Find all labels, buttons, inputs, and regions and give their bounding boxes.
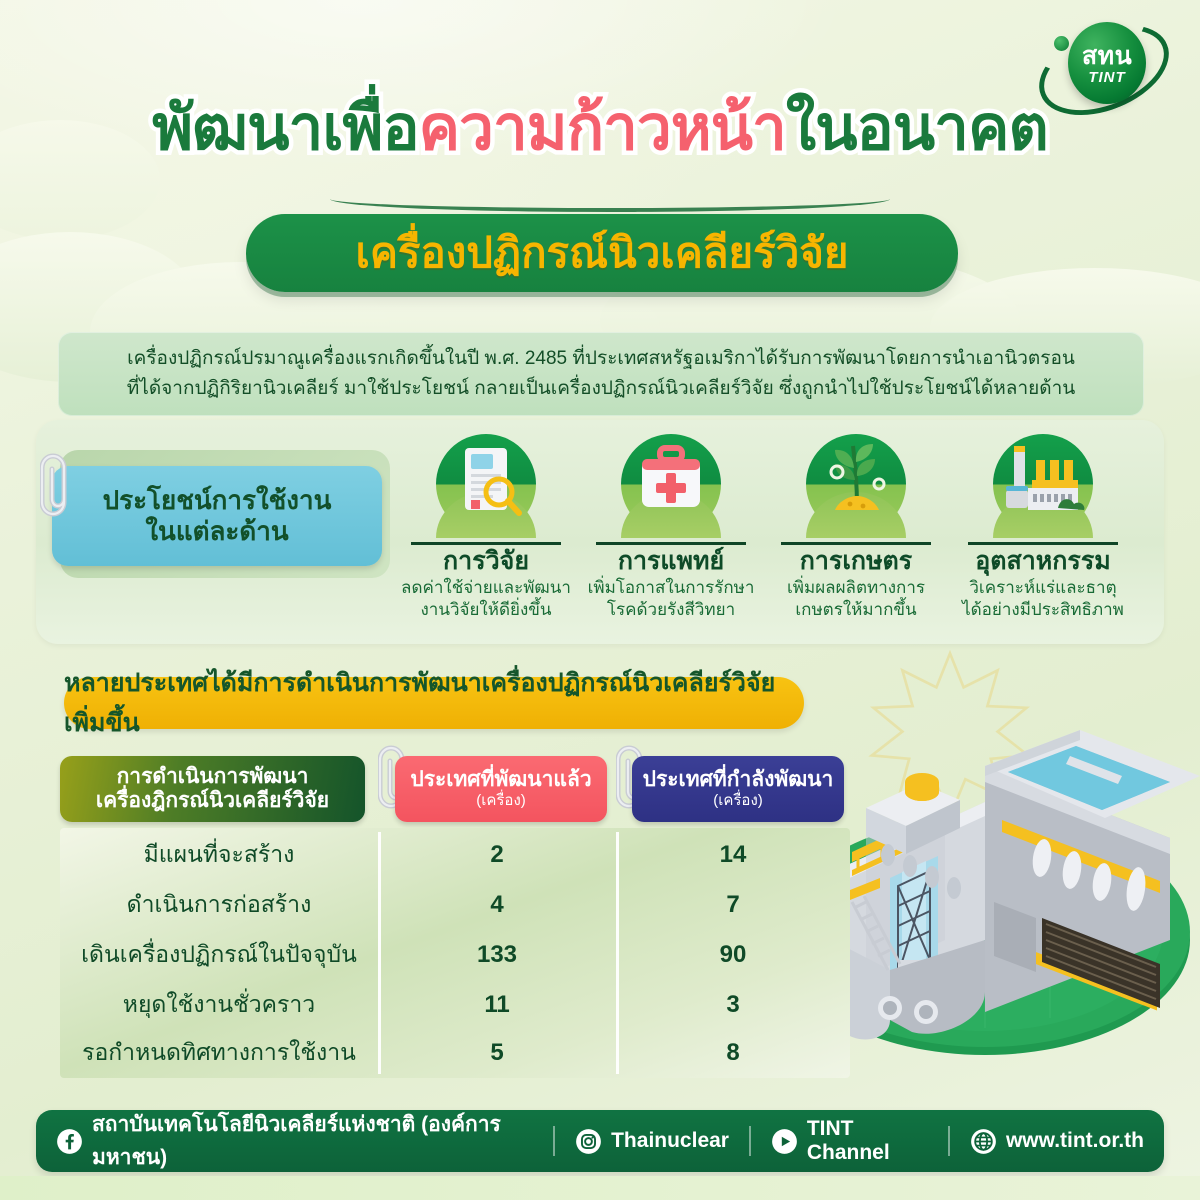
table-row: หยุดใช้งานชั่วคราว 11 3 bbox=[60, 980, 850, 1030]
benefit-title: การวิจัย bbox=[398, 548, 574, 576]
reactor-status-table: การดำเนินการพัฒนา เครื่องฎิกรณ์นิวเคลียร… bbox=[60, 756, 850, 1080]
table-row: ดำเนินการก่อสร้าง 4 7 bbox=[60, 880, 850, 930]
table-section-banner-label: หลายประเทศได้มีการดำเนินการพัฒนาเครื่องป… bbox=[64, 663, 804, 743]
table-body: มีแผนที่จะสร้าง 2 14 ดำเนินการก่อสร้าง 4… bbox=[60, 828, 850, 1078]
benefit-item-research[interactable]: การวิจัย ลดค่าใช้จ่ายและพัฒนา งานวิจัยให… bbox=[398, 434, 574, 620]
table-cell-developing: 90 bbox=[616, 941, 850, 969]
factory-icon bbox=[984, 434, 1102, 538]
table-cell-label: เดินเครื่องปฏิกรณ์ในปัจจุบัน bbox=[60, 937, 378, 973]
benefit-desc-1: เพิ่มผลผลิตทางการ bbox=[768, 577, 944, 598]
table-section-banner: หลายประเทศได้มีการดำเนินการพัฒนาเครื่องป… bbox=[64, 677, 804, 729]
benefit-desc-2: งานวิจัยให้ดียิ่งขึ้น bbox=[398, 599, 574, 620]
benefit-title: การเกษตร bbox=[768, 548, 944, 576]
logo-text-wrap: สทน TINT bbox=[1068, 22, 1146, 104]
headline-part-2: ความก้าวหน้า bbox=[419, 94, 786, 163]
headline-part-3: ในอนาคต bbox=[786, 94, 1048, 163]
table-cell-developed: 11 bbox=[378, 991, 616, 1019]
intro-paragraph: เครื่องปฏิกรณ์ปรมาณูเครื่องแรกเกิดขึ้นใน… bbox=[58, 332, 1144, 416]
table-cell-label: หยุดใช้งานชั่วคราว bbox=[60, 987, 378, 1023]
table-cell-label: ดำเนินการก่อสร้าง bbox=[60, 887, 378, 923]
footer-label-facebook: สถาบันเทคโนโลยีนิวเคลียร์แห่งชาติ (องค์ก… bbox=[92, 1108, 533, 1174]
facebook-icon bbox=[56, 1128, 83, 1155]
table-row: เดินเครื่องปฏิกรณ์ในปัจจุบัน 133 90 bbox=[60, 930, 850, 980]
paperclip-icon bbox=[40, 452, 74, 524]
table-cell-developing: 8 bbox=[616, 1039, 850, 1067]
footer-label-instagram: Thainuclear bbox=[611, 1129, 729, 1153]
table-row: มีแผนที่จะสร้าง 2 14 bbox=[60, 830, 850, 880]
benefit-desc-1: วิเคราะห์แร่และธาตุ bbox=[955, 577, 1131, 598]
subtitle-pill-label: เครื่องปฏิกรณ์นิวเคลียร์วิจัย bbox=[355, 220, 848, 286]
footer-item-instagram[interactable]: Thainuclear bbox=[555, 1128, 749, 1155]
table-header-category-line1: การดำเนินการพัฒนา bbox=[117, 765, 309, 789]
intro-line-2: ที่ได้จากปฏิกิริยานิวเคลียร์ มาใช้ประโยช… bbox=[127, 376, 1076, 402]
footer-item-website[interactable]: www.tint.or.th bbox=[950, 1128, 1164, 1155]
table-header-category: การดำเนินการพัฒนา เครื่องฎิกรณ์นิวเคลียร… bbox=[60, 756, 365, 822]
footer-label-website: www.tint.or.th bbox=[1006, 1129, 1144, 1153]
electron-dot-icon bbox=[1054, 36, 1069, 51]
plant-sprout-icon bbox=[797, 434, 915, 538]
table-header-developing-unit: (เครื่อง) bbox=[713, 792, 763, 809]
table-cell-label: มีแผนที่จะสร้าง bbox=[60, 837, 378, 873]
instagram-icon bbox=[575, 1128, 602, 1155]
benefit-divider bbox=[968, 542, 1118, 545]
table-header-row: การดำเนินการพัฒนา เครื่องฎิกรณ์นิวเคลียร… bbox=[60, 756, 850, 822]
benefit-desc-2: ได้อย่างมีประสิทธิภาพ bbox=[955, 599, 1131, 620]
benefit-divider bbox=[411, 542, 561, 545]
document-magnifier-icon bbox=[427, 434, 545, 538]
table-cell-developed: 133 bbox=[378, 941, 616, 969]
table-header-category-line2: เครื่องฎิกรณ์นิวเคลียร์วิจัย bbox=[96, 789, 329, 813]
footer-item-facebook[interactable]: สถาบันเทคโนโลยีนิวเคลียร์แห่งชาติ (องค์ก… bbox=[36, 1108, 553, 1174]
table-cell-label: รอกำหนดทิศทางการใช้งาน bbox=[60, 1035, 378, 1071]
benefit-title: อุตสาหกรรม bbox=[955, 548, 1131, 576]
benefit-item-agriculture[interactable]: การเกษตร เพิ่มผลผลิตทางการ เกษตรให้มากขึ… bbox=[768, 434, 944, 620]
benefit-divider bbox=[596, 542, 746, 545]
footer-bar: สถาบันเทคโนโลยีนิวเคลียร์แห่งชาติ (องค์ก… bbox=[36, 1110, 1164, 1172]
logo-text-english: TINT bbox=[1068, 70, 1146, 85]
table-cell-developing: 3 bbox=[616, 991, 850, 1019]
table-cell-developing: 7 bbox=[616, 891, 850, 919]
headline-swoosh-divider bbox=[330, 186, 890, 212]
benefit-desc-2: โรคด้วยรังสีวิทยา bbox=[583, 599, 759, 620]
table-header-developing-label: ประเทศที่กำลังพัฒนา bbox=[643, 768, 834, 792]
benefits-card-line-1: ประโยชน์การใช้งาน bbox=[103, 485, 332, 516]
benefit-title: การแพทย์ bbox=[583, 548, 759, 576]
benefit-item-medical[interactable]: การแพทย์ เพิ่มโอกาสในการรักษา โรคด้วยรัง… bbox=[583, 434, 759, 620]
benefits-card-line-2: ในแต่ละด้าน bbox=[145, 516, 288, 547]
table-cell-developed: 4 bbox=[378, 891, 616, 919]
table-row: รอกำหนดทิศทางการใช้งาน 5 8 bbox=[60, 1028, 850, 1078]
logo-text-thai: สทน bbox=[1068, 44, 1146, 69]
footer-label-youtube: TINT Channel bbox=[807, 1117, 928, 1165]
subtitle-pill: เครื่องปฏิกรณ์นิวเคลียร์วิจัย bbox=[246, 214, 958, 292]
benefit-desc-2: เกษตรให้มากขึ้น bbox=[768, 599, 944, 620]
bottom-strip bbox=[0, 1176, 1200, 1200]
benefits-title-card: ประโยชน์การใช้งาน ในแต่ละด้าน bbox=[52, 466, 382, 566]
benefit-item-industry[interactable]: อุตสาหกรรม วิเคราะห์แร่และธาตุ ได้อย่างม… bbox=[955, 434, 1131, 620]
table-header-developing: ประเทศที่กำลังพัฒนา (เครื่อง) bbox=[632, 756, 844, 822]
table-header-developed-unit: (เครื่อง) bbox=[476, 792, 526, 809]
table-cell-developed: 2 bbox=[378, 841, 616, 869]
table-cell-developing: 14 bbox=[616, 841, 850, 869]
youtube-icon bbox=[771, 1128, 798, 1155]
table-header-developed-label: ประเทศที่พัฒนาแล้ว bbox=[410, 768, 591, 792]
footer-item-youtube[interactable]: TINT Channel bbox=[751, 1117, 948, 1165]
infographic-page: สทน TINT พัฒนาเพื่อความก้าวหน้าในอนาคต เ… bbox=[0, 0, 1200, 1200]
benefit-desc-1: เพิ่มโอกาสในการรักษา bbox=[583, 577, 759, 598]
table-header-developed: ประเทศที่พัฒนาแล้ว (เครื่อง) bbox=[395, 756, 607, 822]
medical-kit-icon bbox=[612, 434, 730, 538]
benefit-desc-1: ลดค่าใช้จ่ายและพัฒนา bbox=[398, 577, 574, 598]
intro-line-1: เครื่องปฏิกรณ์ปรมาณูเครื่องแรกเกิดขึ้นใน… bbox=[127, 346, 1075, 372]
table-cell-developed: 5 bbox=[378, 1039, 616, 1067]
headline-part-1: พัฒนาเพื่อ bbox=[152, 94, 418, 163]
globe-icon bbox=[970, 1128, 997, 1155]
benefit-divider bbox=[781, 542, 931, 545]
